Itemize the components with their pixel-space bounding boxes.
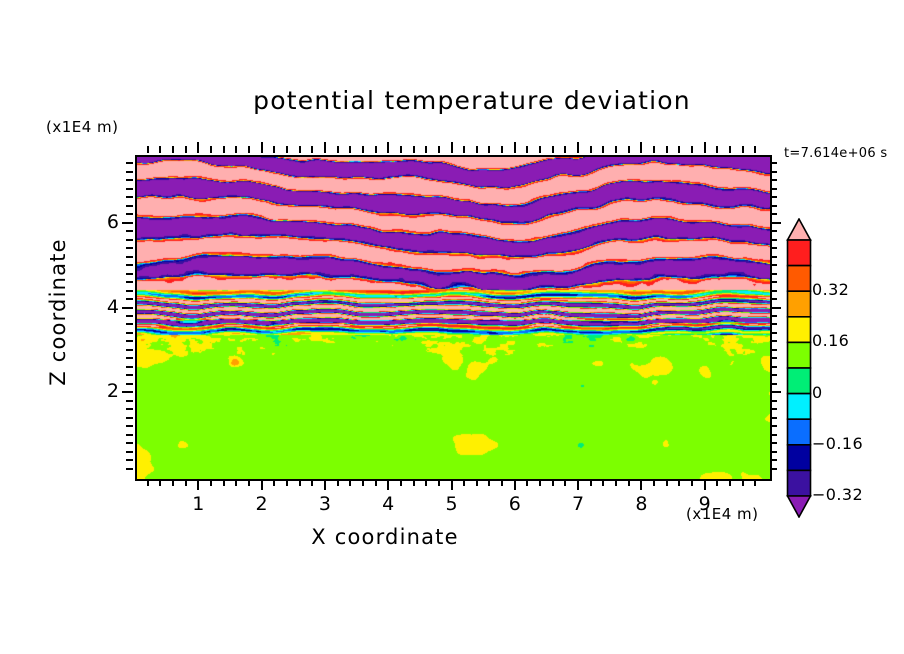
x-tick-top [514, 142, 516, 153]
x-tick-bottom [261, 479, 263, 490]
x-tick-top [488, 146, 490, 153]
x-tick-bottom [653, 479, 655, 486]
x-axis-label: X coordinate [0, 525, 770, 549]
x-tick-bottom [704, 479, 706, 490]
y-tick-right [770, 434, 777, 436]
x-tick-top [526, 146, 528, 153]
x-tick-bottom [286, 479, 288, 486]
y-tick-right [770, 307, 781, 309]
x-tick-bottom [248, 479, 250, 486]
y-tick-right [770, 459, 777, 461]
x-tick-bottom [552, 479, 554, 486]
y-tick-label: 6 [79, 211, 119, 233]
y-tick-label: 4 [79, 296, 119, 318]
y-tick-right [770, 273, 777, 275]
x-tick-top [438, 146, 440, 153]
x-tick-top [299, 146, 301, 153]
x-tick-label: 7 [558, 493, 598, 515]
colorbar-tick-label: −0.32 [812, 485, 863, 504]
y-tick-right [770, 281, 777, 283]
colorbar-tick-label: −0.16 [812, 434, 863, 453]
y-tick-right [770, 357, 777, 359]
x-tick-top [678, 146, 680, 153]
x-tick-top [235, 146, 237, 153]
contour-plot-area [135, 155, 772, 481]
colorbar-swatches [786, 218, 812, 518]
x-tick-top [754, 146, 756, 153]
x-tick-bottom [197, 479, 199, 490]
x-tick-bottom [400, 479, 402, 486]
x-tick-bottom [438, 479, 440, 486]
y-tick-right [770, 468, 777, 470]
x-tick-bottom [476, 479, 478, 486]
x-tick-bottom [539, 479, 541, 486]
colorbar-tick-label: 0 [812, 383, 823, 402]
x-tick-bottom [488, 479, 490, 486]
x-tick-bottom [666, 479, 668, 486]
y-tick-right [770, 205, 777, 207]
y-tick-left [126, 315, 133, 317]
x-tick-bottom [273, 479, 275, 486]
y-tick-right [770, 349, 777, 351]
x-tick-label: 8 [621, 493, 661, 515]
x-tick-top [400, 146, 402, 153]
x-tick-bottom [577, 479, 579, 490]
y-tick-left [126, 281, 133, 283]
x-tick-top [337, 146, 339, 153]
x-tick-top [197, 142, 199, 153]
x-tick-bottom [362, 479, 364, 486]
y-tick-left [126, 442, 133, 444]
x-tick-bottom [172, 479, 174, 486]
x-tick-top [602, 146, 604, 153]
x-tick-bottom [640, 479, 642, 490]
y-tick-left [126, 290, 133, 292]
y-axis-label: Z coordinate [46, 202, 70, 422]
x-tick-bottom [185, 479, 187, 486]
x-tick-top [666, 146, 668, 153]
x-tick-bottom [375, 479, 377, 486]
y-tick-right [770, 323, 777, 325]
x-tick-bottom [742, 479, 744, 486]
y-tick-right [770, 230, 777, 232]
x-tick-top [349, 146, 351, 153]
x-tick-top [261, 142, 263, 153]
x-tick-bottom [324, 479, 326, 490]
x-tick-top [147, 146, 149, 153]
y-tick-left [126, 468, 133, 470]
y-tick-left [126, 332, 133, 334]
x-tick-bottom [628, 479, 630, 486]
x-tick-bottom [387, 479, 389, 490]
colorbar-tick-label: 0.16 [812, 331, 849, 350]
y-tick-right [770, 290, 777, 292]
x-tick-top [653, 146, 655, 153]
x-tick-bottom [311, 479, 313, 486]
x-tick-bottom [299, 479, 301, 486]
y-tick-left [126, 400, 133, 402]
colorbar [786, 218, 812, 518]
y-tick-right [770, 442, 777, 444]
x-tick-bottom [210, 479, 212, 486]
x-tick-bottom [451, 479, 453, 490]
x-tick-top [172, 146, 174, 153]
y-tick-left [126, 340, 133, 342]
page-title: potential temperature deviation [0, 86, 904, 115]
x-tick-label: 6 [495, 493, 535, 515]
y-axis-unit-label: (x1E4 m) [46, 118, 119, 136]
y-tick-left [126, 162, 133, 164]
y-tick-left [122, 222, 133, 224]
y-tick-left [126, 434, 133, 436]
y-tick-left [126, 264, 133, 266]
x-tick-bottom [564, 479, 566, 486]
x-tick-bottom [590, 479, 592, 486]
y-tick-left [126, 213, 133, 215]
x-tick-bottom [678, 479, 680, 486]
x-tick-top [691, 146, 693, 153]
y-tick-right [770, 332, 777, 334]
y-tick-right [770, 247, 777, 249]
timestamp-annotation: t=7.614e+06 s [784, 146, 887, 161]
y-tick-right [770, 383, 777, 385]
y-tick-right [770, 408, 777, 410]
x-tick-top [375, 146, 377, 153]
colorbar-tick-label: 0.32 [812, 280, 849, 299]
y-tick-right [770, 264, 777, 266]
x-tick-bottom [729, 479, 731, 486]
x-tick-label: 1 [178, 493, 218, 515]
x-tick-top [552, 146, 554, 153]
x-tick-bottom [235, 479, 237, 486]
y-tick-right [770, 374, 777, 376]
y-tick-left [126, 374, 133, 376]
y-tick-left [126, 366, 133, 368]
x-tick-bottom [691, 479, 693, 486]
x-tick-label: 3 [305, 493, 345, 515]
y-tick-left [126, 179, 133, 181]
x-tick-top [413, 146, 415, 153]
x-tick-bottom [337, 479, 339, 486]
y-tick-left [122, 307, 133, 309]
y-tick-right [770, 222, 781, 224]
y-tick-right [770, 417, 777, 419]
y-tick-right [770, 340, 777, 342]
y-tick-right [770, 171, 777, 173]
x-tick-top [640, 142, 642, 153]
y-tick-right [770, 366, 777, 368]
x-tick-bottom [349, 479, 351, 486]
y-tick-left [126, 256, 133, 258]
y-tick-left [126, 188, 133, 190]
y-tick-left [126, 349, 133, 351]
x-tick-top [311, 146, 313, 153]
x-tick-top [476, 146, 478, 153]
x-tick-bottom [159, 479, 161, 486]
y-tick-left [126, 425, 133, 427]
x-tick-top [729, 146, 731, 153]
x-tick-top [210, 146, 212, 153]
x-tick-bottom [413, 479, 415, 486]
y-tick-right [770, 213, 777, 215]
x-tick-bottom [526, 479, 528, 486]
y-tick-left [126, 205, 133, 207]
x-tick-bottom [514, 479, 516, 490]
y-tick-right [770, 425, 777, 427]
x-tick-top [223, 146, 225, 153]
y-tick-left [126, 273, 133, 275]
x-tick-bottom [602, 479, 604, 486]
x-tick-top [463, 146, 465, 153]
y-tick-right [770, 196, 777, 198]
x-tick-top [362, 146, 364, 153]
chart-title-text: potential temperature deviation [213, 86, 691, 115]
y-tick-left [126, 459, 133, 461]
x-tick-top [273, 146, 275, 153]
x-tick-top [501, 146, 503, 153]
x-tick-bottom [223, 479, 225, 486]
y-tick-right [770, 315, 777, 317]
y-tick-left [126, 247, 133, 249]
x-tick-top [286, 146, 288, 153]
x-tick-top [185, 146, 187, 153]
x-tick-top [628, 146, 630, 153]
y-tick-left [126, 383, 133, 385]
x-tick-top [704, 142, 706, 153]
x-tick-top [248, 146, 250, 153]
y-tick-right [770, 179, 777, 181]
y-tick-right [770, 239, 777, 241]
y-tick-left [126, 230, 133, 232]
y-tick-left [126, 171, 133, 173]
x-tick-bottom [754, 479, 756, 486]
y-tick-left [126, 196, 133, 198]
y-tick-right [770, 162, 777, 164]
x-tick-label: 2 [242, 493, 282, 515]
x-tick-bottom [147, 479, 149, 486]
x-tick-top [539, 146, 541, 153]
y-tick-left [122, 391, 133, 393]
y-tick-right [770, 298, 777, 300]
x-tick-bottom [463, 479, 465, 486]
x-tick-top [577, 142, 579, 153]
y-tick-left [126, 239, 133, 241]
x-tick-bottom [501, 479, 503, 486]
x-tick-top [451, 142, 453, 153]
y-tick-right [770, 391, 781, 393]
x-tick-bottom [716, 479, 718, 486]
x-tick-label: 9 [685, 493, 725, 515]
x-tick-top [615, 146, 617, 153]
y-tick-left [126, 357, 133, 359]
y-tick-right [770, 400, 777, 402]
x-tick-top [324, 142, 326, 153]
x-tick-top [159, 146, 161, 153]
x-tick-top [716, 146, 718, 153]
y-tick-left [126, 417, 133, 419]
y-tick-label: 2 [79, 380, 119, 402]
y-tick-left [126, 298, 133, 300]
x-tick-top [425, 146, 427, 153]
y-tick-right [770, 451, 777, 453]
y-tick-right [770, 256, 777, 258]
x-tick-label: 4 [368, 493, 408, 515]
y-tick-right [770, 188, 777, 190]
x-tick-top [742, 146, 744, 153]
y-tick-left [126, 323, 133, 325]
x-tick-top [564, 146, 566, 153]
x-tick-top [590, 146, 592, 153]
x-tick-top [387, 142, 389, 153]
x-tick-bottom [615, 479, 617, 486]
temperature-deviation-field [137, 157, 770, 479]
x-tick-label: 5 [432, 493, 472, 515]
x-tick-bottom [425, 479, 427, 486]
y-tick-left [126, 451, 133, 453]
y-tick-left [126, 408, 133, 410]
